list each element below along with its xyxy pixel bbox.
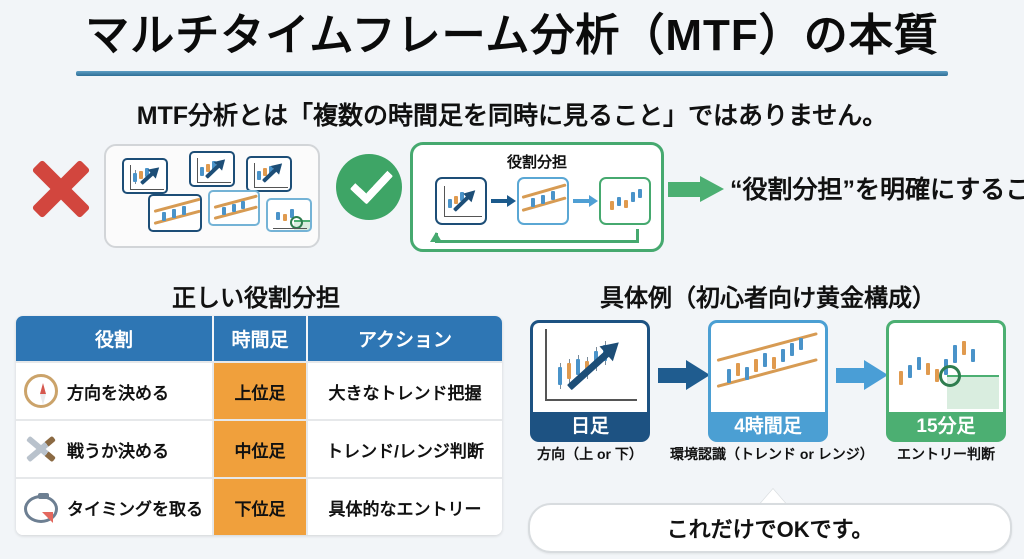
crossed-swords-icon: [24, 432, 58, 466]
example-arrow: [658, 360, 710, 390]
timeframe-cell: 下位足: [214, 477, 308, 535]
example-label: 4時間足: [708, 412, 828, 442]
example-cards: 日足 方向（上 or 下） 4時間足 環境認識（トレンド or レンジ）: [518, 314, 1018, 484]
flow-chart-card: [517, 177, 569, 225]
action-cell: 大きなトレンド把握: [308, 361, 502, 419]
example-label: 15分足: [886, 412, 1006, 442]
column-header-role: 役割: [16, 316, 214, 361]
role-cell: 戦うか決める: [16, 419, 214, 477]
role-label: タイミングを取る: [67, 495, 203, 520]
table-row: 戦うか決める 中位足 トレンド/レンジ判断: [16, 419, 502, 477]
table-header-row: 役割 時間足 アクション: [16, 316, 502, 361]
role-label: 方向を決める: [67, 379, 169, 404]
fifteen-min-chart: [886, 320, 1006, 412]
header: マルチタイムフレーム分析（MTF）の本質: [0, 8, 1024, 76]
summary-bubble: これだけでOKです。: [528, 503, 1012, 553]
title-underline: [76, 71, 948, 76]
example-arrow: [836, 360, 888, 390]
summary-text: これだけでOKです。: [667, 512, 874, 544]
example-caption: エントリー判断: [874, 444, 1018, 464]
example-card-4h: 4時間足: [708, 320, 828, 442]
page-title: マルチタイムフレーム分析（MTF）の本質: [0, 8, 1024, 63]
stopwatch-icon: [24, 495, 58, 523]
role-cell: タイミングを取る: [16, 477, 214, 535]
roles-table: 役割 時間足 アクション 方向を決める 上位足 大きなトレンド把握: [16, 316, 502, 535]
flow-arrow: [491, 197, 517, 205]
scattered-charts-box: [104, 144, 320, 248]
chart-thumbnail: [122, 158, 168, 194]
table-row: 方向を決める 上位足 大きなトレンド把握: [16, 361, 502, 419]
flow-arrow: [573, 197, 599, 205]
comparison-result-text: “役割分担”を明確にすること: [730, 170, 1020, 206]
green-check-mark-icon: [336, 154, 402, 220]
chart-thumbnail: [148, 194, 202, 232]
example-section-heading: 具体例（初心者向け黄金構成）: [512, 278, 1024, 313]
roles-section-heading: 正しい役割分担: [0, 278, 512, 313]
column-header-timeframe: 時間足: [214, 316, 308, 361]
infographic-page: マルチタイムフレーム分析（MTF）の本質 MTF分析とは「複数の時間足を同時に見…: [0, 0, 1024, 559]
table-row: タイミングを取る 下位足 具体的なエントリー: [16, 477, 502, 535]
flow-chart-card: [599, 177, 651, 225]
role-cell: 方向を決める: [16, 361, 214, 419]
flow-chart-card: [435, 177, 487, 225]
example-card-15m: 15分足: [886, 320, 1006, 442]
role-split-flow-box: 役割分担: [410, 142, 664, 252]
timeframe-cell: 上位足: [214, 361, 308, 419]
chart-thumbnail: [246, 156, 292, 192]
example-card-daily: 日足: [530, 320, 650, 442]
daily-chart: [530, 320, 650, 412]
role-label: 戦うか決める: [67, 437, 169, 462]
example-label: 日足: [530, 412, 650, 442]
example-caption: 環境認識（トレンド or レンジ）: [670, 444, 866, 464]
column-header-action: アクション: [308, 316, 502, 361]
page-subtitle: MTF分析とは「複数の時間足を同時に見ること」ではありません。: [0, 96, 1024, 132]
action-cell: 具体的なエントリー: [308, 477, 502, 535]
comparison-row: 役割分担: [0, 140, 1024, 260]
timeframe-cell: 中位足: [214, 419, 308, 477]
bubble-pointer: [760, 489, 786, 504]
result-arrow-icon: [668, 176, 724, 202]
flow-box-title: 役割分担: [413, 151, 661, 172]
chart-thumbnail: [208, 190, 260, 226]
feedback-loop-arrow: [435, 229, 639, 243]
chart-thumbnail: [266, 198, 312, 232]
compass-icon: [24, 374, 58, 408]
red-x-mark-icon: [24, 152, 98, 226]
example-caption: 方向（上 or 下）: [520, 444, 660, 464]
chart-thumbnail: [189, 151, 235, 187]
action-cell: トレンド/レンジ判断: [308, 419, 502, 477]
four-hour-chart: [708, 320, 828, 412]
